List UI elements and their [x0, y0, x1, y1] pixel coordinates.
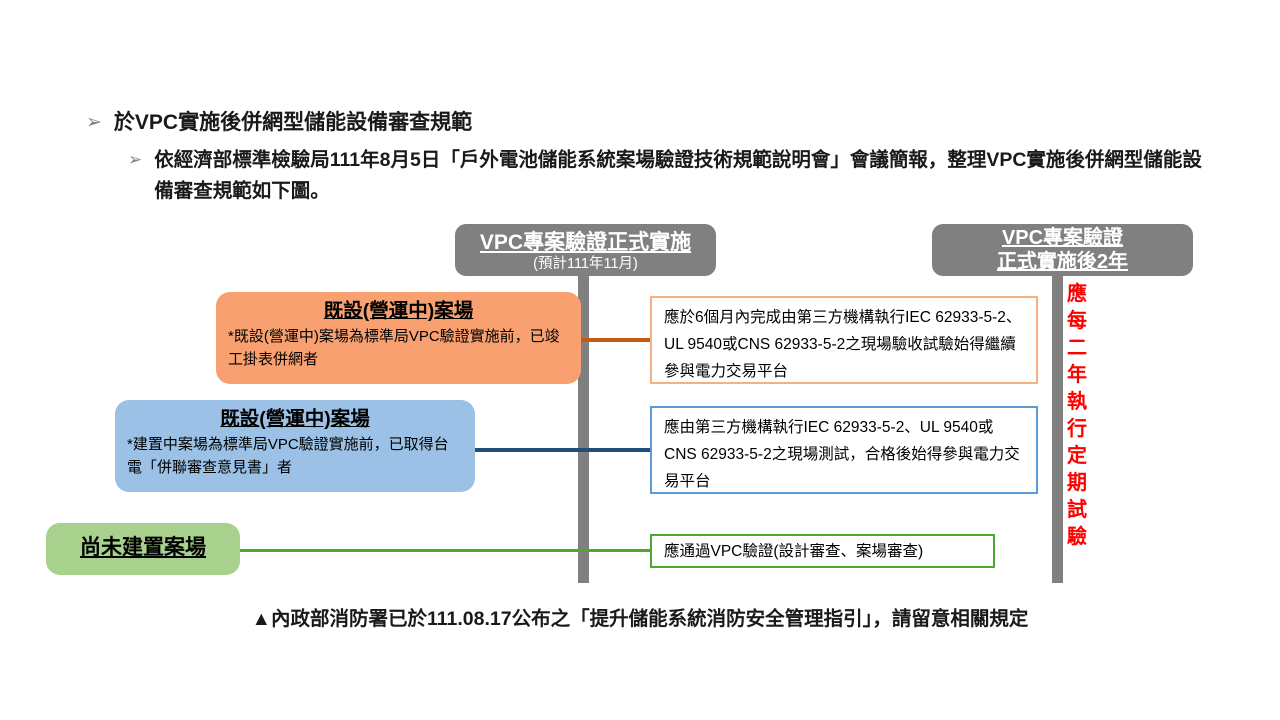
periodic-test-char-7: 期 — [1064, 470, 1090, 497]
periodic-test-char-4: 執 — [1064, 389, 1090, 416]
periodic-test-vertical-label: 應每二年執行定期試驗 — [1064, 281, 1090, 551]
bullet-level2: ➢ 依經濟部標準檢驗局111年8月5日「戶外電池儲能系統案場驗證技術規範說明會」… — [128, 145, 1208, 207]
milestone-two-year-title-line2: 正式實施後2年 — [932, 250, 1193, 274]
milestone-launch-header: VPC專案驗證正式實施 (預計111年11月) — [455, 224, 716, 276]
connector-line-under-construction — [470, 448, 653, 452]
category-box-under-construction: 既設(營運中)案場 *建置中案場為標準局VPC驗證實施前，已取得台電「併聯審查意… — [115, 400, 475, 492]
periodic-test-char-5: 行 — [1064, 416, 1090, 443]
periodic-test-char-8: 試 — [1064, 497, 1090, 524]
bullet-arrow-icon: ➢ — [86, 108, 102, 138]
connector-line-not-built — [236, 549, 653, 552]
category-title-not-built: 尚未建置案場 — [80, 534, 206, 562]
periodic-test-char-0: 應 — [1064, 281, 1090, 308]
category-box-not-built: 尚未建置案場 — [46, 523, 240, 575]
category-note-under-construction: *建置中案場為標準局VPC驗證實施前，已取得台電「併聯審查意見書」者 — [127, 433, 463, 479]
milestone-two-year-header: VPC專案驗證 正式實施後2年 — [932, 224, 1193, 276]
bullet-level1: ➢ 於VPC實施後併網型儲能設備審查規範 — [86, 108, 1186, 138]
category-box-existing-operating: 既設(營運中)案場 *既設(營運中)案場為標準局VPC驗證實施前，已竣工掛表併網… — [216, 292, 581, 384]
timeline-bar-two-year — [1052, 266, 1063, 583]
requirement-box-existing-operating: 應於6個月內完成由第三方機構執行IEC 62933-5-2、UL 9540或CN… — [650, 296, 1038, 384]
milestone-launch-subtitle: (預計111年11月) — [455, 255, 716, 273]
requirement-box-under-construction: 應由第三方機構執行IEC 62933-5-2、UL 9540或CNS 62933… — [650, 406, 1038, 494]
footer-note: ▲內政部消防署已於111.08.17公布之「提升儲能系統消防安全管理指引」，請留… — [0, 602, 1280, 631]
slide-canvas: ➢ 於VPC實施後併網型儲能設備審查規範 ➢ 依經濟部標準檢驗局111年8月5日… — [0, 0, 1280, 720]
category-note-existing-operating: *既設(營運中)案場為標準局VPC驗證實施前，已竣工掛表併網者 — [228, 325, 569, 371]
category-title-existing-operating: 既設(營運中)案場 — [228, 298, 569, 325]
periodic-test-char-2: 二 — [1064, 335, 1090, 362]
category-title-under-construction: 既設(營運中)案場 — [127, 406, 463, 433]
periodic-test-char-6: 定 — [1064, 443, 1090, 470]
bullet-level1-text: 於VPC實施後併網型儲能設備審查規範 — [114, 108, 472, 138]
periodic-test-char-9: 驗 — [1064, 524, 1090, 551]
milestone-two-year-title-line1: VPC專案驗證 — [932, 226, 1193, 250]
milestone-launch-title: VPC專案驗證正式實施 — [455, 230, 716, 255]
bullet-arrow-icon: ➢ — [128, 145, 142, 175]
periodic-test-char-1: 每 — [1064, 308, 1090, 335]
bullet-level2-text: 依經濟部標準檢驗局111年8月5日「戶外電池儲能系統案場驗證技術規範說明會」會議… — [154, 145, 1208, 207]
periodic-test-char-3: 年 — [1064, 362, 1090, 389]
requirement-box-not-built: 應通過VPC驗證(設計審查、案場審查) — [650, 534, 995, 568]
connector-line-existing — [573, 338, 653, 342]
